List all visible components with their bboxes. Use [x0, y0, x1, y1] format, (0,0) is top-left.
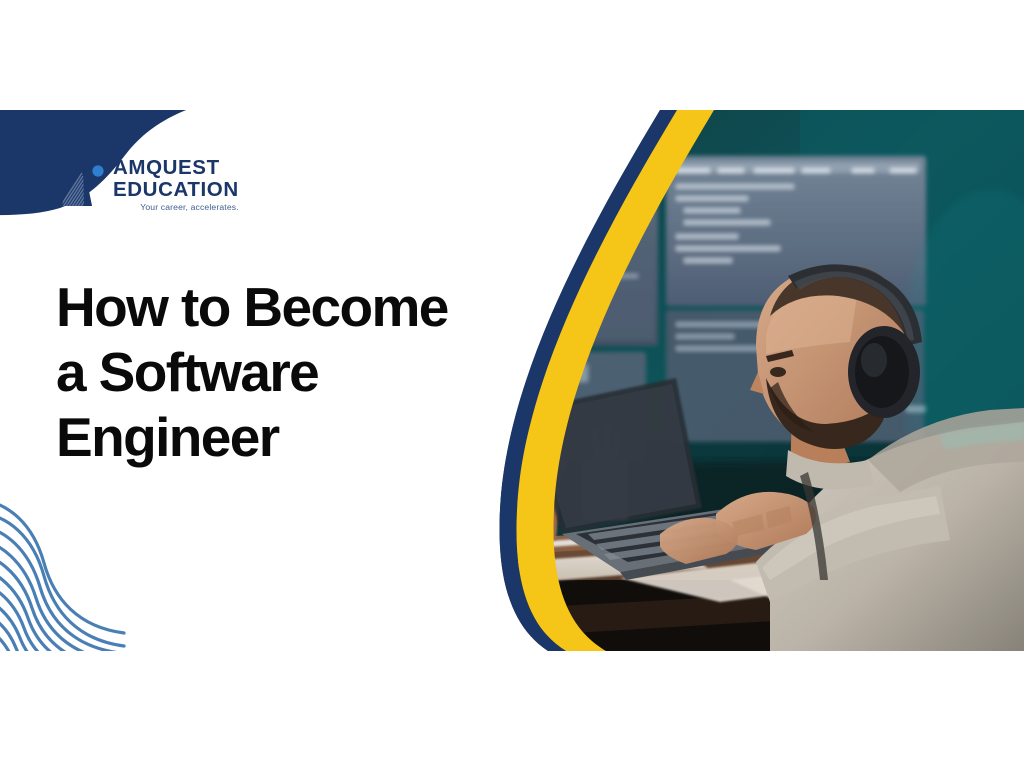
headline-line-3: Engineer	[56, 406, 279, 468]
banner-canvas: AMQUEST EDUCATION Your career, accelerat…	[0, 0, 1024, 768]
page-title: How to Become a Software Engineer	[56, 275, 526, 470]
hero-banner: AMQUEST EDUCATION Your career, accelerat…	[0, 110, 1024, 651]
logo-wordmark: AMQUEST EDUCATION Your career, accelerat…	[113, 158, 239, 212]
logo-name-line1: AMQUEST	[113, 158, 239, 179]
logo-tagline: Your career, accelerates.	[113, 203, 239, 212]
brand-logo[interactable]: AMQUEST EDUCATION Your career, accelerat…	[58, 158, 239, 212]
headline-line-1: How to Become	[56, 276, 448, 338]
amquest-a-monogram-icon	[58, 160, 104, 210]
blue-wave-lines-icon	[0, 481, 200, 651]
logo-name-line2: EDUCATION	[113, 180, 239, 201]
logo-dot-icon	[92, 165, 103, 176]
left-content-panel: AMQUEST EDUCATION Your career, accelerat…	[0, 110, 620, 651]
headline-line-2: a Software	[56, 341, 318, 403]
